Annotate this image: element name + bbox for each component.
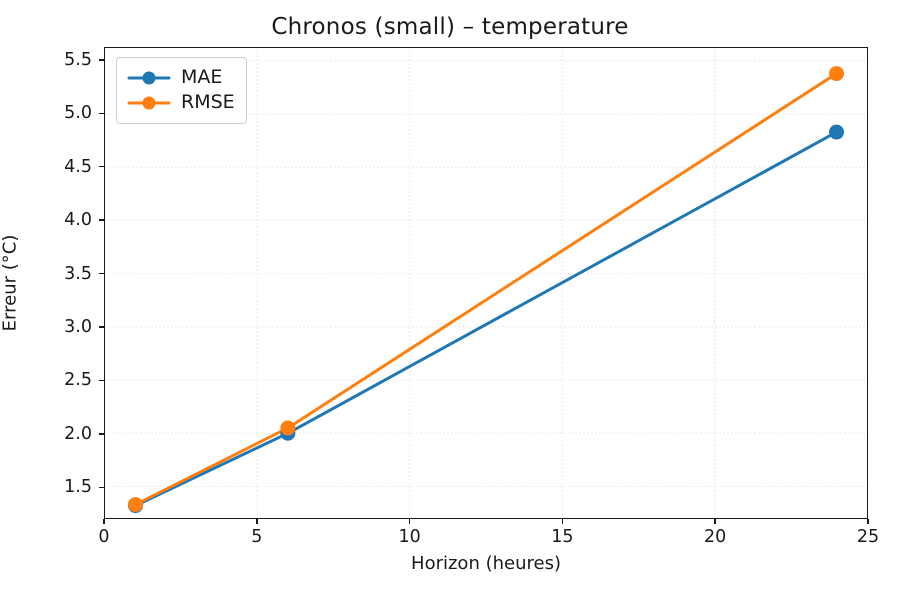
x-tick-label: 0 [98, 527, 109, 547]
legend-swatch-rmse [127, 94, 171, 112]
y-tick-mark [99, 59, 104, 61]
y-axis-label: Erreur (°C) [0, 235, 21, 332]
x-tick-mark [103, 519, 105, 524]
y-tick-label: 5.0 [9, 103, 92, 123]
x-tick-mark [867, 519, 869, 524]
x-tick-mark [714, 519, 716, 524]
x-tick-mark [562, 519, 564, 524]
y-tick-label: 1.5 [9, 477, 92, 497]
y-tick-label: 3.5 [9, 264, 92, 284]
x-tick-mark [256, 519, 258, 524]
x-axis-label: Horizon (heures) [104, 553, 868, 574]
x-tick-label: 25 [857, 527, 879, 547]
y-tick-label: 3.0 [9, 317, 92, 337]
legend-swatch-mae [127, 69, 171, 87]
y-tick-mark [99, 380, 104, 382]
y-tick-label: 4.0 [9, 210, 92, 230]
series-line-mae [135, 132, 836, 506]
y-tick-mark [99, 326, 104, 328]
y-tick-label: 5.5 [9, 50, 92, 70]
y-tick-mark [99, 487, 104, 489]
chart-legend: MAERMSE [116, 57, 247, 124]
y-tick-label: 4.5 [9, 157, 92, 177]
y-tick-mark [99, 273, 104, 275]
legend-item-mae[interactable]: MAE [127, 65, 235, 90]
y-tick-mark [99, 219, 104, 221]
legend-item-rmse[interactable]: RMSE [127, 90, 235, 115]
x-tick-label: 5 [251, 527, 262, 547]
series-line-rmse [135, 74, 836, 505]
y-tick-mark [99, 113, 104, 115]
y-tick-mark [99, 166, 104, 168]
x-tick-label: 20 [704, 527, 726, 547]
y-tick-label: 2.0 [9, 424, 92, 444]
chart-figure: Chronos (small) – temperature 0510152025… [0, 0, 900, 600]
legend-label: RMSE [181, 93, 235, 112]
x-tick-label: 15 [551, 527, 573, 547]
legend-label: MAE [181, 68, 222, 87]
y-tick-mark [99, 433, 104, 435]
chart-title: Chronos (small) – temperature [0, 14, 900, 40]
x-tick-mark [409, 519, 411, 524]
data-point-rmse [280, 420, 295, 435]
data-point-mae [829, 125, 844, 140]
data-point-rmse [128, 497, 143, 512]
x-tick-label: 10 [398, 527, 420, 547]
y-tick-label: 2.5 [9, 370, 92, 390]
data-point-rmse [829, 66, 844, 81]
